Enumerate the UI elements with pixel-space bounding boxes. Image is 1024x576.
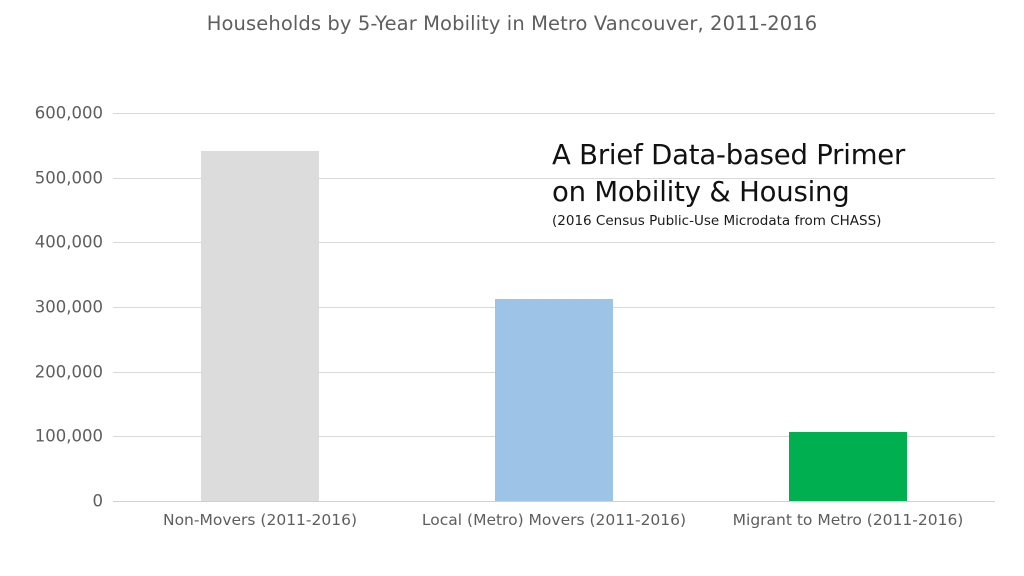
y-axis: 600,000500,000400,000300,000200,000100,0… [0,113,103,501]
y-axis-tick-label: 0 [0,492,103,511]
bar [201,151,319,501]
bar [495,299,613,501]
slide-canvas: Households by 5-Year Mobility in Metro V… [0,0,1024,576]
y-axis-tick-label: 100,000 [0,427,103,446]
chart-title: Households by 5-Year Mobility in Metro V… [0,12,1024,35]
callout-source-note: (2016 Census Public-Use Microdata from C… [552,212,932,230]
x-axis-tick-label: Local (Metro) Movers (2011-2016) [407,508,701,532]
y-axis-tick-label: 500,000 [0,168,103,187]
bar [789,432,907,501]
callout-line-2: on Mobility & Housing [552,174,932,211]
y-axis-tick-label: 300,000 [0,298,103,317]
x-axis: Non-Movers (2011-2016)Local (Metro) Move… [113,508,995,574]
callout-line-1: A Brief Data-based Primer [552,137,932,174]
x-axis-tick-label: Non-Movers (2011-2016) [113,508,407,532]
y-axis-tick-label: 400,000 [0,233,103,252]
gridline [113,501,995,502]
y-axis-tick-label: 600,000 [0,104,103,123]
callout-overlay: A Brief Data-based Primer on Mobility & … [552,137,932,230]
y-axis-tick-label: 200,000 [0,362,103,381]
x-axis-tick-label: Migrant to Metro (2011-2016) [701,508,995,532]
